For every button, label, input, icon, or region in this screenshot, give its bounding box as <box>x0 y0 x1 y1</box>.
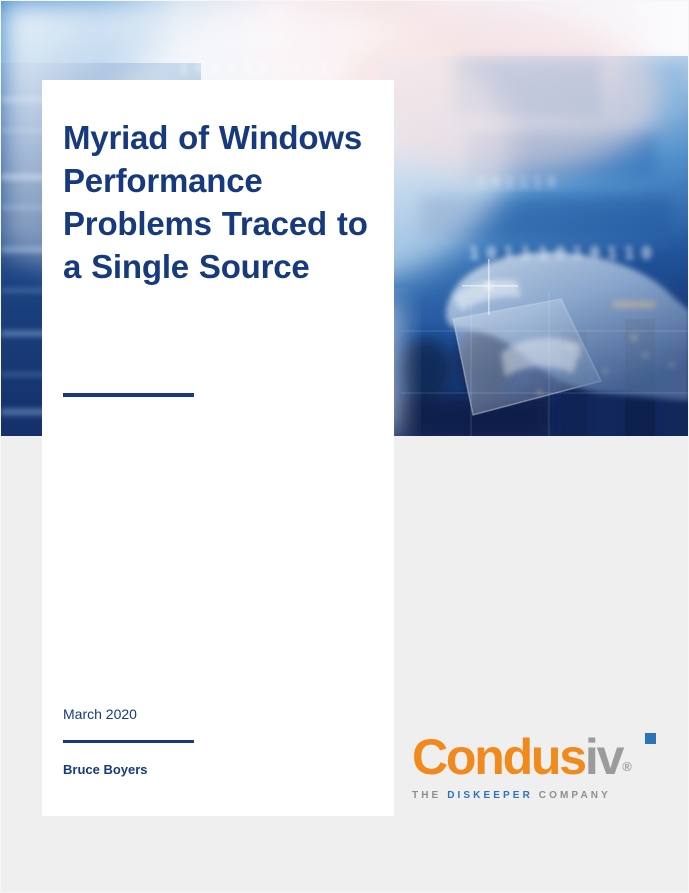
document-meta: March 2020 Bruce Boyers <box>63 705 375 778</box>
author-name: Bruce Boyers <box>63 761 375 778</box>
publication-date: March 2020 <box>63 705 375 723</box>
logo-word-iv: iv <box>585 729 622 785</box>
condusiv-logo: Condusiv® THE DISKEEPER COMPANY <box>412 731 662 807</box>
title-divider <box>63 393 194 397</box>
logo-tagline: THE DISKEEPER COMPANY <box>412 790 662 801</box>
document-cover-page: 10111010110 101110 10111010110 <box>0 0 689 893</box>
logo-blue-square-icon <box>645 733 656 744</box>
title-block: Myriad of Windows Performance Problems T… <box>63 116 375 288</box>
logo-wordmark: Condusiv® <box>412 731 662 783</box>
registered-trademark-icon: ® <box>622 759 632 774</box>
meta-divider <box>63 740 194 743</box>
cover-card: Myriad of Windows Performance Problems T… <box>42 80 394 816</box>
tagline-word-diskeeper: DISKEEPER <box>447 790 533 801</box>
page-title: Myriad of Windows Performance Problems T… <box>63 116 375 288</box>
logo-word-condus: Condus <box>412 729 585 785</box>
tagline-word-the: THE <box>412 790 441 801</box>
tagline-word-company: COMPANY <box>539 790 611 801</box>
